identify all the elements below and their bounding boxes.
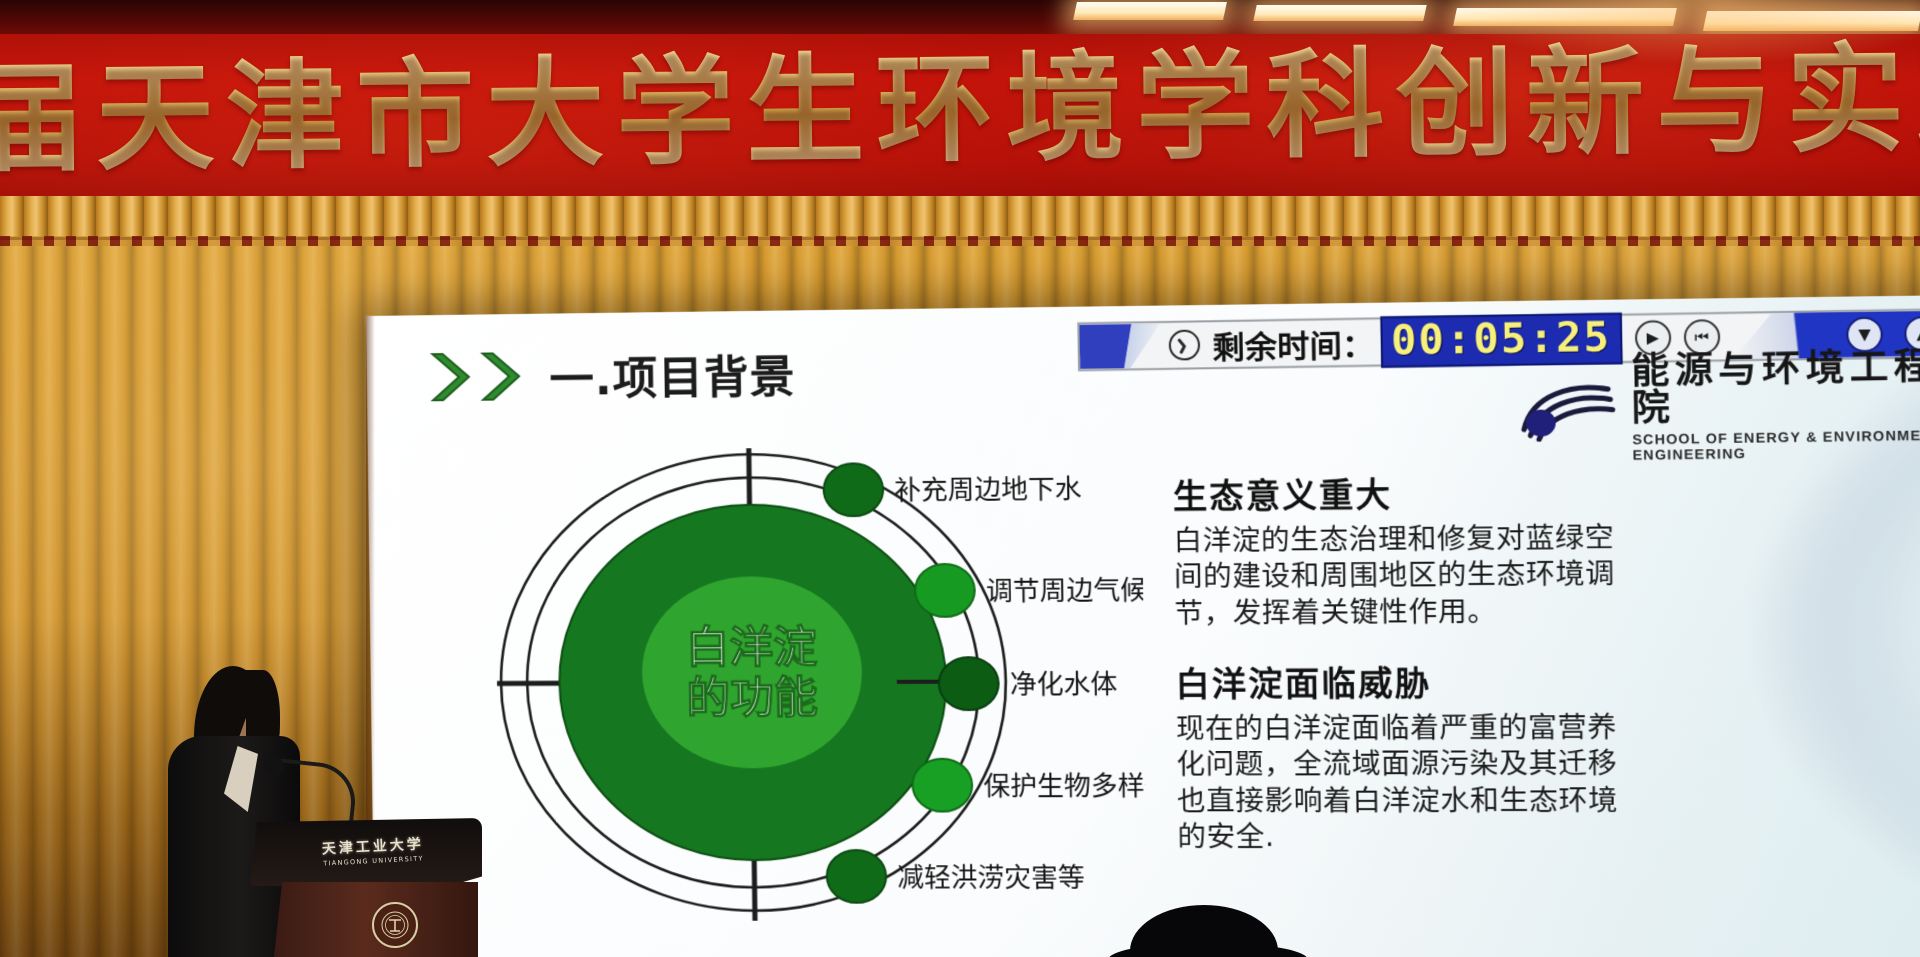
diagram-node-label-2: 调节周边气候 [986,576,1148,608]
diagram-node-label-5: 减轻洪涝灾害等 [897,863,1085,894]
school-logo-cn: 能源与环境工程学院 [1631,348,1920,428]
diagram-node-label-3: 净化水体 [1010,670,1118,701]
swirl-logo-icon [1517,377,1620,442]
school-logo: 能源与环境工程学院 SCHOOL OF ENERGY & ENVIRONMENT… [1516,348,1920,465]
presenter: 天津工业大学 TIANGONG UNIVERSITY [150,640,480,957]
clock-icon [1169,330,1201,361]
curtain-valance [0,196,1920,240]
page-title: 一.项目背景 [549,341,796,408]
valance-trim [0,236,1920,246]
slide-text-column: 生态意义重大 白洋淀的生态治理和修复对蓝绿空间的建设和周围地区的生态环境调节，发… [1173,475,1630,855]
double-chevron-icon [428,350,525,403]
diagram-center-line2: 的功能 [686,673,818,724]
microphone-head [264,756,284,776]
baiyangdian-function-diagram: 白洋淀 的功能 补充周边地下水 调节周边气候 净化水体 保护生物多样性 减轻洪涝… [488,438,1148,927]
auditorium-scene: 届天津市大学生环境学科创新与实践能力 一.项目背景 剩余时间： [0,0,1920,957]
section-2: 白洋淀面临威胁 现在的白洋淀面临着严重的富营养化问题，全流域面源污染及其迁移也直… [1175,664,1629,855]
section-1: 生态意义重大 白洋淀的生态治理和修复对蓝绿空间的建设和周围地区的生态环境调节，发… [1173,475,1627,632]
section-heading: 生态意义重大 [1173,475,1625,516]
timer-lead-decoration [1079,323,1161,369]
diagram-node-label-4: 保护生物多样性 [983,772,1147,803]
section-heading: 白洋淀面临威胁 [1175,664,1627,703]
event-banner-text: 届天津市大学生环境学科创新与实践能力 [0,18,1920,179]
timer-label: 剩余时间： [1212,319,1375,368]
university-crest-icon [372,902,418,948]
projected-slide: 一.项目背景 剩余时间： 00:05:25 ▶ ⏮ ▼ ▲ [366,295,1920,957]
school-logo-en: SCHOOL OF ENERGY & ENVIRONMENTAL ENGINEE… [1632,427,1920,463]
slide-title-row: 一.项目背景 [428,341,795,410]
section-body: 现在的白洋淀面临着严重的富营养化问题，全流域面源污染及其迁移也直接影响着白洋淀水… [1176,710,1629,855]
diagram-node-label-1: 补充周边地下水 [894,475,1082,507]
diagram-center-line1: 白洋淀 [686,623,818,674]
section-body: 白洋淀的生态治理和修复对蓝绿空间的建设和周围地区的生态环境调节，发挥着关键性作用… [1173,520,1626,631]
